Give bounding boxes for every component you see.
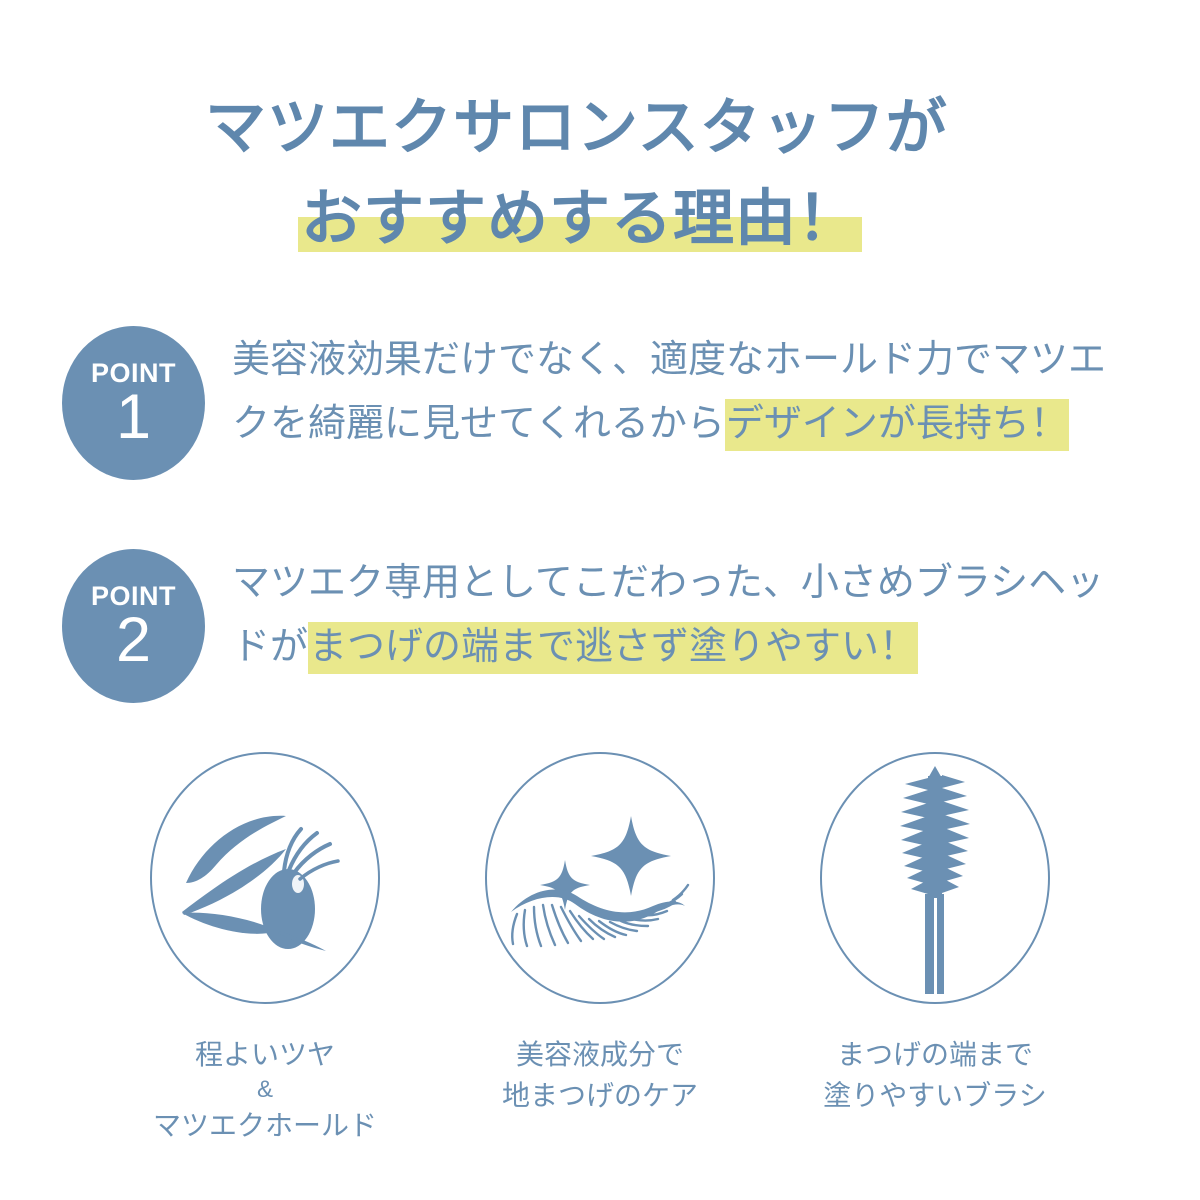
feature-circle-2 <box>485 752 715 1004</box>
mascara-wand-icon <box>875 762 995 994</box>
point-badge-1: POINT 1 <box>62 326 205 480</box>
point-block-2: POINT 2 マツエク専用としてこだわった、小さめブラシヘッ ドがまつげの端ま… <box>62 545 1104 703</box>
title-line-2: おすすめする理由！ <box>205 173 1200 264</box>
feature-circle-1 <box>150 752 380 1004</box>
feature-caption-1-line-2: & <box>153 1075 377 1105</box>
point-2-highlight: まつげの端まで逃さず塗りやすい！ <box>308 622 918 674</box>
feature-list: 程よいツヤ & マツエクホールド <box>0 752 1200 1146</box>
feature-caption-3-line-1: まつげの端まで <box>823 1034 1046 1075</box>
sparkling-lashes-icon <box>503 788 698 968</box>
point-1-line-2: クを綺麗に見せてくれるからデザインが長持ち！ <box>232 392 1106 456</box>
feature-caption-1-line-1: 程よいツヤ <box>153 1034 377 1075</box>
page-title: マツエクサロンスタッフが おすすめする理由！ <box>0 82 1200 264</box>
promo-page: マツエクサロンスタッフが おすすめする理由！ POINT 1 美容液効果だけでな… <box>0 0 1200 1200</box>
point-2-line-2: ドがまつげの端まで逃さず塗りやすい！ <box>232 615 1104 679</box>
feature-item-2: 美容液成分で 地まつげのケア <box>469 752 731 1146</box>
feature-item-1: 程よいツヤ & マツエクホールド <box>134 752 396 1146</box>
point-badge-2: POINT 2 <box>62 549 205 703</box>
point-2-line-1: マツエク専用としてこだわった、小さめブラシヘッ <box>232 551 1104 615</box>
feature-caption-1: 程よいツヤ & マツエクホールド <box>153 1034 377 1146</box>
point-1-highlight: デザインが長持ち！ <box>725 399 1069 451</box>
point-2-line-2-plain: ドが <box>232 626 308 668</box>
point-block-1: POINT 1 美容液効果だけでなく、適度なホールド力でマツエ クを綺麗に見せて… <box>62 322 1106 480</box>
title-line-1: マツエクサロンスタッフが <box>205 82 1200 173</box>
feature-caption-1-line-3: マツエクホールド <box>153 1105 377 1146</box>
point-text-1: 美容液効果だけでなく、適度なホールド力でマツエ クを綺麗に見せてくれるからデザイ… <box>232 322 1106 456</box>
feature-circle-3 <box>820 752 1050 1004</box>
title-highlight: おすすめする理由！ <box>298 184 862 252</box>
feature-item-3: まつげの端まで 塗りやすいブラシ <box>804 752 1066 1146</box>
point-badge-number-1: 1 <box>116 386 151 448</box>
point-badge-number-2: 2 <box>116 609 151 671</box>
feature-caption-2-line-2: 地まつげのケア <box>502 1075 698 1116</box>
feature-caption-3-line-2: 塗りやすいブラシ <box>823 1075 1046 1116</box>
feature-caption-2: 美容液成分で 地まつげのケア <box>502 1034 698 1116</box>
point-1-line-2-plain: クを綺麗に見せてくれるから <box>232 403 725 445</box>
point-text-2: マツエク専用としてこだわった、小さめブラシヘッ ドがまつげの端まで逃さず塗りやす… <box>232 545 1104 679</box>
feature-caption-2-line-1: 美容液成分で <box>502 1034 698 1075</box>
feature-caption-3: まつげの端まで 塗りやすいブラシ <box>823 1034 1046 1116</box>
eye-with-lashes-icon <box>170 791 360 966</box>
point-1-line-1: 美容液効果だけでなく、適度なホールド力でマツエ <box>232 328 1106 392</box>
